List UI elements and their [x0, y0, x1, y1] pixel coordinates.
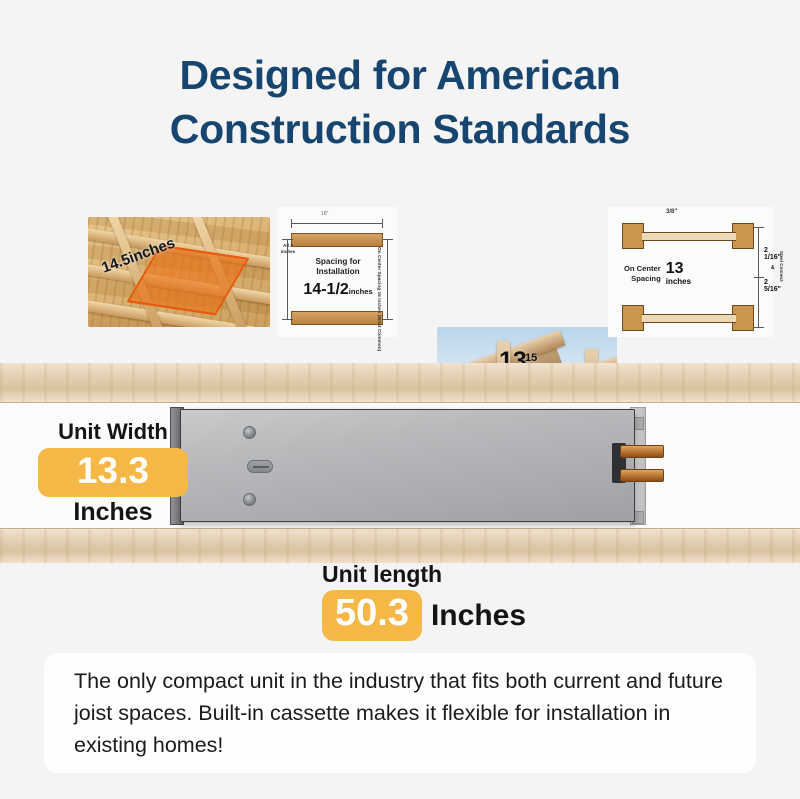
ijoist-fraction-top: 2 1/16" [764, 247, 769, 261]
unit-width-value: 13.3 [38, 448, 188, 497]
dimension-line-horizontal [291, 223, 383, 224]
ijoist-unit: inches [666, 277, 691, 286]
spacing-top-label: 16" [321, 211, 328, 217]
ijoist-value-group: 13 inches [666, 261, 691, 286]
copper-pipe [620, 445, 664, 458]
i-joist-top [622, 223, 754, 249]
unit-width-badge: Unit Width 13.3 Inches [38, 420, 188, 526]
unit-length-title: Unit length [322, 562, 526, 587]
dimension-tick [291, 219, 292, 228]
spacing-caption-line-1: Spacing for [293, 257, 383, 267]
dimension-tick [282, 239, 293, 240]
spacing-caption-line-2: Installation [293, 267, 383, 277]
unit-length-badge: Unit length 50.3 Inches [322, 562, 526, 641]
ijoist-caption-lines: On Center Spacing [624, 264, 661, 284]
lumber-bar-bottom [291, 311, 383, 325]
dimension-tick [754, 327, 764, 328]
ijoist-top-label: 3/8" [666, 209, 677, 215]
unit-width-title: Unit Width [38, 420, 188, 444]
dimension-tick [382, 319, 393, 320]
i-joist-web [642, 232, 736, 241]
joist-band-top [0, 363, 800, 403]
ijoist-value: 13 [666, 261, 691, 277]
screw-icon [243, 426, 256, 439]
spacing-caption-block: Spacing for Installation 14-1/2inches [293, 257, 383, 299]
spacing-drawing: 16" All 2 inches On Center Spacing 16 in… [277, 207, 397, 337]
dimension-tick [382, 239, 393, 240]
dimension-line-right [387, 239, 388, 319]
dimension-tick [754, 277, 764, 278]
spacing-value-unit: inches [349, 287, 373, 296]
joist-opening-photo: 14.5inches [88, 217, 270, 327]
i-joist-flange [622, 223, 644, 249]
ijoist-caption-line-2: Spacing [624, 274, 661, 284]
unit-length-row: 50.3 Inches [322, 590, 526, 641]
i-joist-web [642, 314, 736, 323]
infographic-page: Designed for American Construction Stand… [0, 0, 800, 799]
dimension-tick [282, 319, 293, 320]
screw-icon [243, 493, 256, 506]
unit-length-value: 50.3 [322, 590, 422, 641]
page-title: Designed for American Construction Stand… [0, 48, 800, 156]
caption-text: The only compact unit in the industry th… [74, 665, 726, 762]
spacing-value: 14-1/2inches [293, 281, 383, 299]
ijoist-caption-line-1: On Center [624, 264, 661, 274]
i-joist-bottom [622, 305, 754, 331]
hvac-unit-body [180, 409, 635, 522]
copper-pipe [620, 469, 664, 482]
copper-pipe-connections [620, 445, 664, 489]
spacing-left-label: All 2 inches [277, 243, 299, 254]
ijoist-drawing: 3/8" On Center Spacing [608, 207, 773, 337]
unit-width-unit: Inches [38, 499, 188, 527]
spacing-value-number: 14-1/2 [303, 281, 348, 298]
dimension-tick [382, 219, 383, 228]
vent-port-icon [247, 460, 273, 473]
caption-card: The only compact unit in the industry th… [44, 653, 756, 773]
ijoist-caption-block: On Center Spacing 13 inches [624, 261, 752, 286]
joist-band-bottom [0, 528, 800, 563]
page-title-line-2: Construction Standards [0, 102, 800, 156]
unit-length-unit: Inches [431, 599, 526, 633]
ijoist-fraction-bottom: 2 5/16" [764, 279, 769, 293]
page-title-line-1: Designed for American [0, 48, 800, 102]
dimension-tick [754, 227, 764, 228]
lumber-bar-top [291, 233, 383, 247]
i-joist-flange [622, 305, 644, 331]
ijoist-right-label: Steel Connect [779, 251, 784, 311]
spec-strip: 14.5inches 16" All 2 inches On Center Sp… [0, 197, 800, 347]
